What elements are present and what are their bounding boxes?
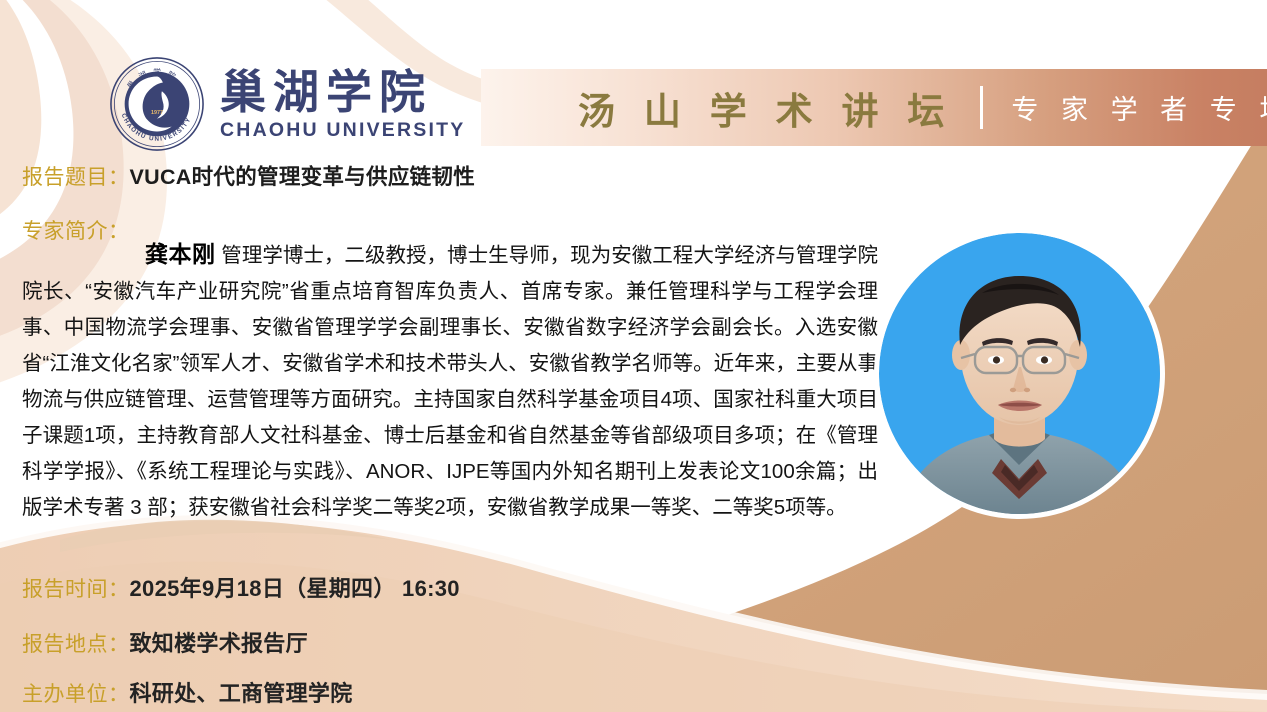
lecture-place-value: 致知楼学术报告厅	[130, 626, 308, 658]
speaker-bio-text: 龚本刚 管理学博士，二级教授，博士生导师，现为安徽工程大学经济与管理学院院长、“…	[22, 236, 878, 526]
speaker-portrait	[879, 233, 1160, 514]
lecture-place-label: 报告地点：	[22, 628, 130, 658]
lecture-place-row: 报告地点： 致知楼学术报告厅	[22, 626, 308, 658]
lecture-time-label: 报告时间：	[22, 573, 130, 603]
lecture-title-label: 报告题目：	[22, 161, 130, 191]
lecture-title-row: 报告题目： VUCA时代的管理变革与供应链韧性	[22, 160, 475, 191]
lecture-host-value: 科研处、工商管理学院	[130, 676, 353, 708]
speaker-bio-row: 专家简介： 龚本刚 管理学博士，二级教授，博士生导师，现为安徽工程大学经济与管理…	[22, 215, 878, 546]
lecture-poster: 1977 巢 湖 学 院 CHAOHU UNIVERSITY 巢湖学院 CHAO…	[0, 0, 1267, 712]
lecture-time-value: 2025年9月18日（星期四） 16:30	[130, 571, 460, 603]
lecture-host-row: 主办单位： 科研处、工商管理学院	[22, 676, 353, 708]
speaker-bio-body: 管理学博士，二级教授，博士生导师，现为安徽工程大学经济与管理学院院长、“安徽汽车…	[22, 244, 878, 519]
lecture-title-value: VUCA时代的管理变革与供应链韧性	[130, 160, 476, 191]
lecture-host-label: 主办单位：	[22, 678, 130, 708]
speaker-name: 龚本刚	[145, 241, 216, 267]
lecture-time-row: 报告时间： 2025年9月18日（星期四） 16:30	[22, 571, 460, 603]
speaker-bio-label: 专家简介：	[22, 215, 130, 245]
